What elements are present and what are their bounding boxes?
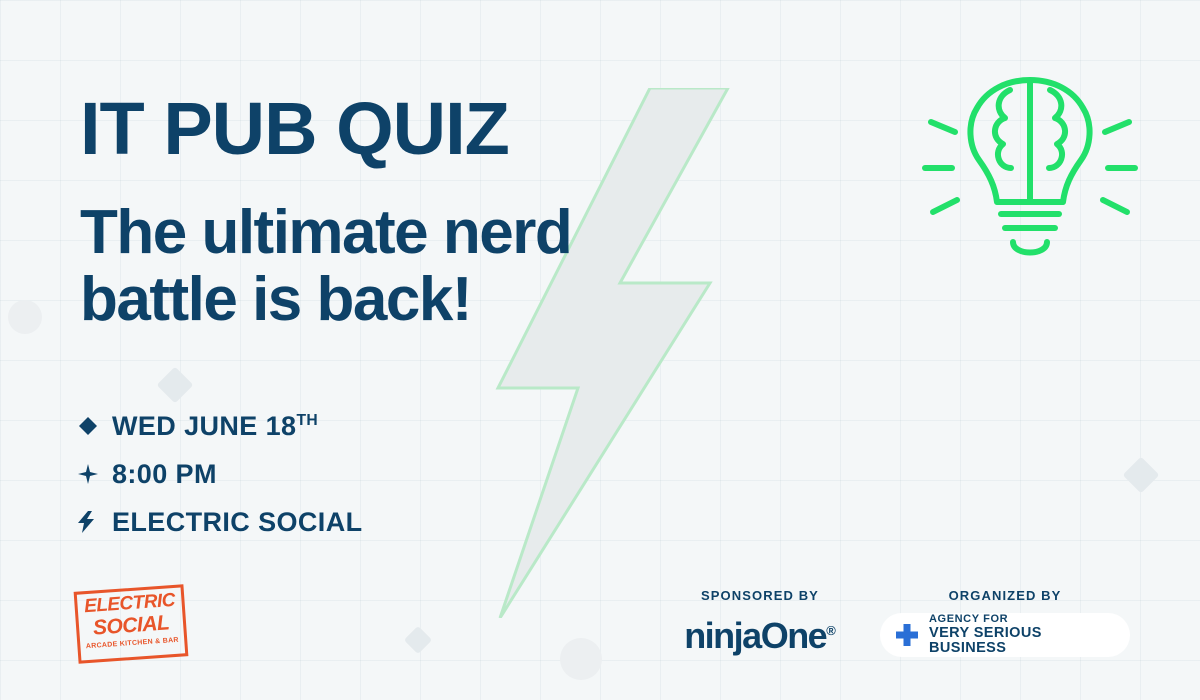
bolt-icon	[78, 511, 112, 533]
sponsor-kicker: SPONSORED BY	[660, 588, 860, 603]
ninjaone-logo: ninjaOne®	[660, 615, 860, 657]
brain-lightbulb-icon	[915, 60, 1145, 290]
registered-mark: ®	[826, 623, 836, 638]
agency-wordmark: AGENCY FOR VERY SERIOUS BUSINESS	[929, 614, 1116, 656]
subheadline-line-2: battle is back!	[80, 267, 840, 334]
decor-diamond-1	[157, 367, 194, 404]
event-detail-time: 8:00 PM	[78, 450, 363, 498]
event-date-text: WED JUNE 18TH	[112, 411, 318, 442]
agency-logo-pill: AGENCY FOR VERY SERIOUS BUSINESS	[880, 613, 1130, 657]
organizer-block: ORGANIZED BY AGENCY FOR VERY SERIOUS BUS…	[880, 588, 1130, 657]
sponsor-block: SPONSORED BY ninjaOne®	[660, 588, 860, 657]
decor-circle-2	[8, 300, 42, 334]
electric-social-logo: ELECTRIC SOCIAL ARCADE KITCHEN & BAR	[74, 584, 189, 663]
subheadline: The ultimate nerd battle is back!	[80, 200, 840, 334]
organizer-kicker: ORGANIZED BY	[880, 588, 1130, 603]
subheadline-line-1: The ultimate nerd	[80, 200, 840, 267]
agency-line-2: VERY SERIOUS BUSINESS	[929, 626, 1116, 656]
agency-line-1: AGENCY FOR	[929, 614, 1116, 626]
ninjaone-wordmark: ninjaOne	[684, 615, 826, 656]
event-detail-date: WED JUNE 18TH	[78, 402, 363, 450]
sparkle-icon	[78, 464, 112, 484]
event-time-text: 8:00 PM	[112, 459, 217, 490]
diamond-icon	[78, 416, 112, 436]
poster-canvas: IT PUB QUIZ The ultimate nerd battle is …	[0, 0, 1200, 700]
page-title: IT PUB QUIZ	[80, 92, 509, 166]
event-details-list: WED JUNE 18TH 8:00 PM ELECTRIC SOCIAL	[78, 402, 363, 546]
decor-diamond-2	[1123, 457, 1160, 494]
decor-diamond-3	[404, 626, 432, 654]
decor-circle-1	[560, 638, 602, 680]
date-ordinal-suffix: TH	[296, 412, 318, 429]
plus-cross-icon	[894, 622, 920, 648]
event-detail-venue: ELECTRIC SOCIAL	[78, 498, 363, 546]
event-venue-text: ELECTRIC SOCIAL	[112, 507, 363, 538]
